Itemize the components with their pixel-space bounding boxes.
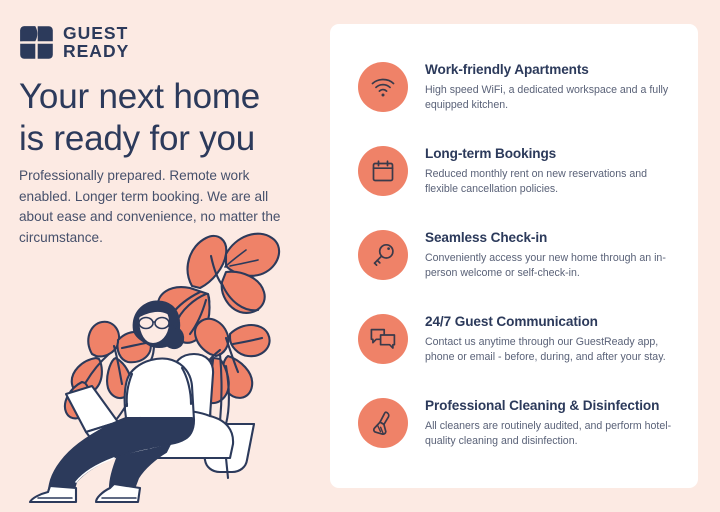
guestready-quadrant-logo-icon xyxy=(19,25,54,60)
feature-text: Seamless Check-in Conveniently access yo… xyxy=(425,228,678,281)
brand-logo[interactable]: GUEST READY xyxy=(19,25,129,61)
brand-wordmark: GUEST READY xyxy=(63,25,129,61)
brand-name-line2: READY xyxy=(63,43,129,61)
feature-item-work-friendly-apartments[interactable]: Work-friendly Apartments High speed WiFi… xyxy=(358,60,678,113)
promo-page: GUEST READY Your next home is ready for … xyxy=(0,0,720,512)
calendar-icon xyxy=(358,146,408,196)
feature-title: 24/7 Guest Communication xyxy=(425,314,678,331)
feature-title: Professional Cleaning & Disinfection xyxy=(425,398,678,415)
feature-title: Long-term Bookings xyxy=(425,146,678,163)
headline-line-1: Your next home xyxy=(19,77,260,116)
feature-item-seamless-check-in[interactable]: Seamless Check-in Conveniently access yo… xyxy=(358,228,678,281)
chat-bubbles-icon xyxy=(358,314,408,364)
feature-title: Seamless Check-in xyxy=(425,230,678,247)
feature-description: Conveniently access your new home throug… xyxy=(425,251,678,281)
feature-item-long-term-bookings[interactable]: Long-term Bookings Reduced monthly rent … xyxy=(358,144,678,197)
feature-item-guest-communication[interactable]: 24/7 Guest Communication Contact us anyt… xyxy=(358,312,678,365)
left-panel: GUEST READY Your next home is ready for … xyxy=(0,0,330,512)
broom-icon xyxy=(358,398,408,448)
feature-title: Work-friendly Apartments xyxy=(425,62,678,79)
features-card: Work-friendly Apartments High speed WiFi… xyxy=(330,24,698,488)
feature-description: Contact us anytime through our GuestRead… xyxy=(425,335,678,365)
feature-item-cleaning-disinfection[interactable]: Professional Cleaning & Disinfection All… xyxy=(358,396,678,449)
key-icon xyxy=(358,230,408,280)
feature-text: 24/7 Guest Communication Contact us anyt… xyxy=(425,312,678,365)
woman-with-laptop-illustration xyxy=(14,226,324,504)
feature-text: Long-term Bookings Reduced monthly rent … xyxy=(425,144,678,197)
page-title: Your next home is ready for you xyxy=(19,76,319,160)
headline-line-2: is ready for you xyxy=(19,118,319,160)
feature-description: High speed WiFi, a dedicated workspace a… xyxy=(425,83,678,113)
feature-text: Work-friendly Apartments High speed WiFi… xyxy=(425,60,678,113)
feature-description: Reduced monthly rent on new reservations… xyxy=(425,167,678,197)
feature-description: All cleaners are routinely audited, and … xyxy=(425,419,678,449)
feature-text: Professional Cleaning & Disinfection All… xyxy=(425,396,678,449)
wifi-icon xyxy=(358,62,408,112)
